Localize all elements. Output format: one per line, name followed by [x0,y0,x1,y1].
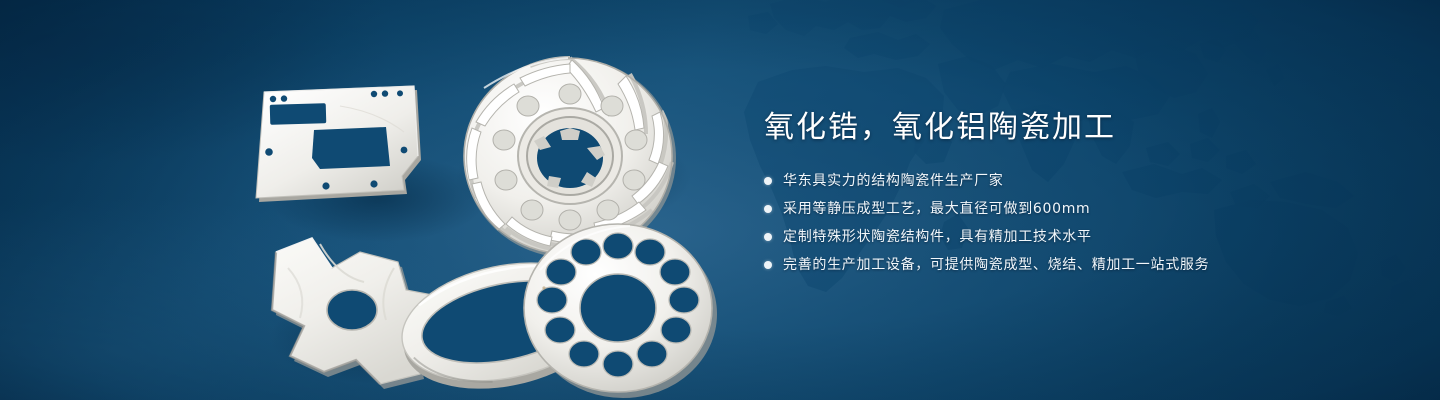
banner-copy: 氧化锆，氧化铝陶瓷加工 华东具实力的结构陶瓷件生产厂家 采用等静压成型工艺，最大… [764,108,1404,276]
bullet-dot-icon [764,233,772,241]
list-item: 采用等静压成型工艺，最大直径可做到600mm [764,198,1404,220]
bullet-dot-icon [764,261,772,269]
list-item: 完善的生产加工设备，可提供陶瓷成型、烧结、精加工一站式服务 [764,254,1404,276]
list-item: 华东具实力的结构陶瓷件生产厂家 [764,170,1404,192]
list-item-label: 完善的生产加工设备，可提供陶瓷成型、烧结、精加工一站式服务 [783,254,1209,276]
page-title: 氧化锆，氧化铝陶瓷加工 [764,108,1404,148]
list-item-label: 定制特殊形状陶瓷结构件，具有精加工技术水平 [783,226,1092,248]
ceramic-products-image [228,38,718,384]
list-item-label: 华东具实力的结构陶瓷件生产厂家 [783,170,1004,192]
list-item-label: 采用等静压成型工艺，最大直径可做到600mm [783,198,1090,220]
list-item: 定制特殊形状陶瓷结构件，具有精加工技术水平 [764,226,1404,248]
bullet-dot-icon [764,177,772,185]
ceramic-processing-banner: 氧化锆，氧化铝陶瓷加工 华东具实力的结构陶瓷件生产厂家 采用等静压成型工艺，最大… [0,0,1440,400]
bullet-dot-icon [764,205,772,213]
ceramic-mounting-plate-shape [256,86,421,202]
feature-list: 华东具实力的结构陶瓷件生产厂家 采用等静压成型工艺，最大直径可做到600mm 定… [764,170,1404,276]
